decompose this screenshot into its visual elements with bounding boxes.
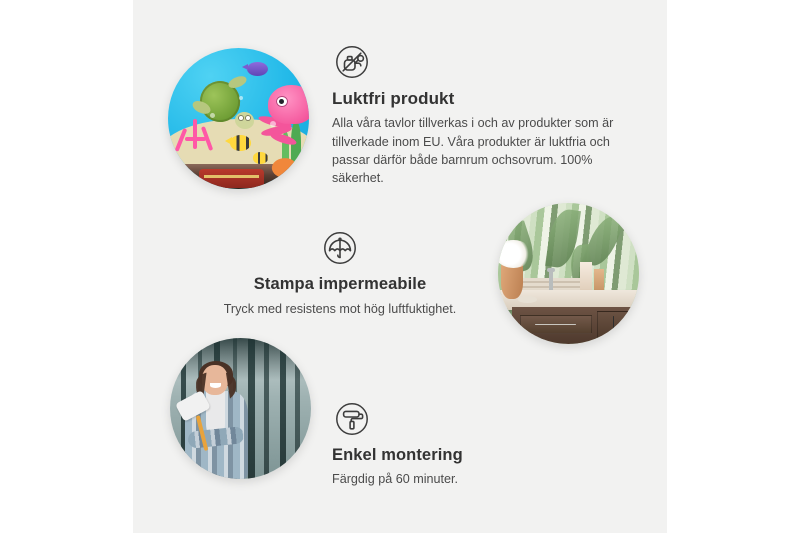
feature-waterproof: Stampa impermeabile Tryck med resistens … xyxy=(215,228,465,318)
feature-easy-mounting: Enkel montering Färgdig på 60 minuter. xyxy=(332,399,562,488)
photo-inner-bath xyxy=(498,203,639,344)
turtle-shape xyxy=(191,76,256,132)
feature-odor-free: Luktfri produkt Alla våra tavlor tillver… xyxy=(332,42,624,187)
treasure-chest-shape xyxy=(199,169,264,187)
feature-description: Färgdig på 60 minuter. xyxy=(332,470,562,488)
fish-shape-yellow xyxy=(230,135,251,151)
woman-figure xyxy=(181,361,268,479)
photo-inner-sea xyxy=(168,48,309,189)
underwater-cartoon-photo xyxy=(168,48,309,189)
feature-title: Enkel montering xyxy=(332,445,562,466)
decorator-forest-photo xyxy=(170,338,311,479)
no-fragrance-icon xyxy=(332,42,372,82)
feature-title: Luktfri produkt xyxy=(332,88,624,109)
fish-shape-yellow-2 xyxy=(253,152,269,163)
feature-title: Stampa impermeabile xyxy=(215,274,465,295)
flowers-shape xyxy=(498,240,532,268)
bathroom-vanity-photo xyxy=(498,203,639,344)
paint-roller-icon xyxy=(332,399,372,439)
vanity-cabinet xyxy=(512,307,639,344)
octopus-shape xyxy=(255,85,309,150)
faucet-shape xyxy=(549,272,553,290)
umbrella-icon xyxy=(320,228,360,268)
feature-description: Alla våra tavlor tillverkas i och av pro… xyxy=(332,114,624,187)
feature-description: Tryck med resistens mot hög luftfuktighe… xyxy=(215,300,465,318)
page-root: Luktfri produkt Alla våra tavlor tillver… xyxy=(0,0,800,533)
photo-inner-forest xyxy=(170,338,311,479)
